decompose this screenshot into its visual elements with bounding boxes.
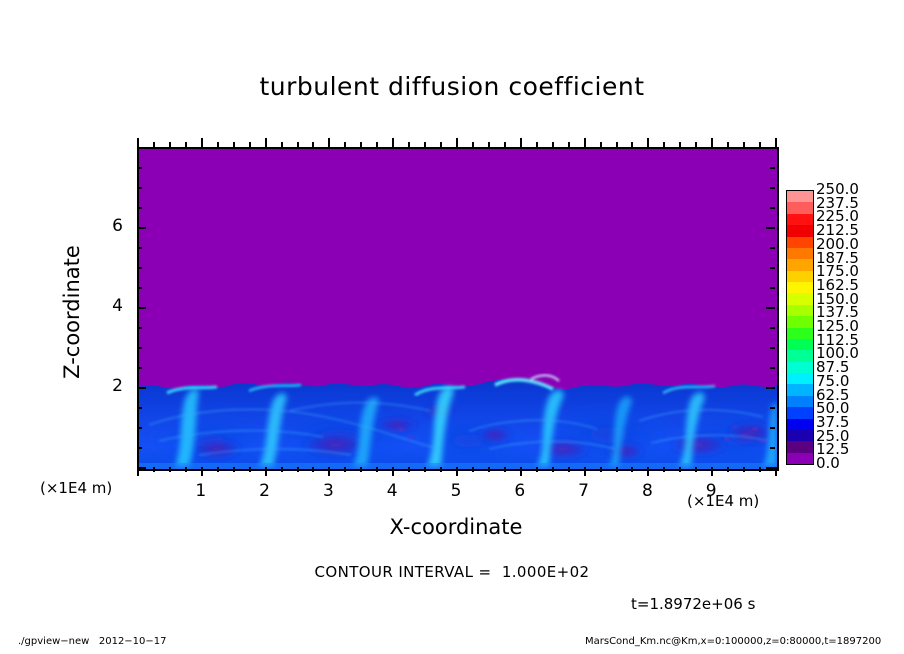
axis-tick bbox=[743, 142, 745, 147]
axis-tick bbox=[695, 467, 697, 472]
axis-tick bbox=[770, 347, 775, 349]
axis-tick bbox=[647, 467, 649, 476]
colorbar-band bbox=[787, 373, 813, 384]
colorbar-band bbox=[787, 225, 813, 236]
axis-tick bbox=[663, 142, 665, 147]
colorbar-band bbox=[787, 350, 813, 361]
axis-tick bbox=[770, 247, 775, 249]
axis-tick bbox=[647, 138, 649, 147]
axis-tick bbox=[695, 142, 697, 147]
axis-tick bbox=[137, 387, 146, 389]
axis-tick bbox=[233, 467, 235, 472]
axis-tick bbox=[137, 347, 142, 349]
y-axis-ticklabel: 6 bbox=[89, 216, 123, 236]
axis-tick bbox=[472, 467, 474, 472]
axis-tick bbox=[217, 467, 219, 472]
axis-tick bbox=[137, 427, 142, 429]
axis-tick bbox=[392, 467, 394, 476]
axis-tick bbox=[169, 467, 171, 472]
axis-tick bbox=[770, 407, 775, 409]
colorbar-band bbox=[787, 339, 813, 350]
page-title: turbulent diffusion coefficient bbox=[0, 72, 904, 101]
colorbar-band bbox=[787, 248, 813, 259]
axis-tick bbox=[137, 467, 146, 469]
axis-tick bbox=[766, 307, 775, 309]
axis-tick bbox=[520, 138, 522, 147]
axis-tick bbox=[536, 467, 538, 472]
axis-tick bbox=[766, 467, 775, 469]
axis-tick bbox=[770, 447, 775, 449]
axis-tick bbox=[265, 467, 267, 476]
axis-tick bbox=[233, 142, 235, 147]
axis-tick bbox=[520, 467, 522, 476]
axis-tick bbox=[265, 138, 267, 147]
x-axis-ticklabel: 3 bbox=[308, 481, 348, 501]
axis-tick bbox=[137, 247, 142, 249]
axis-tick bbox=[344, 142, 346, 147]
axis-tick bbox=[344, 467, 346, 472]
axis-tick bbox=[408, 467, 410, 472]
axis-tick bbox=[297, 467, 299, 472]
axis-tick bbox=[775, 467, 777, 476]
axis-tick bbox=[770, 187, 775, 189]
colorbar-band bbox=[787, 202, 813, 213]
axis-tick bbox=[770, 287, 775, 289]
axis-tick bbox=[488, 467, 490, 472]
colorbar-band bbox=[787, 328, 813, 339]
axis-tick bbox=[137, 367, 142, 369]
axis-tick bbox=[328, 138, 330, 147]
axis-tick bbox=[249, 467, 251, 472]
colorbar-band bbox=[787, 214, 813, 225]
axis-tick bbox=[137, 138, 139, 147]
axis-tick bbox=[743, 467, 745, 472]
axis-tick bbox=[631, 142, 633, 147]
axis-tick bbox=[600, 467, 602, 472]
contour-interval-note: CONTOUR INTERVAL = 1.000E+02 bbox=[0, 563, 904, 581]
colorbar-band bbox=[787, 259, 813, 270]
axis-tick bbox=[616, 142, 618, 147]
footer-command: ./gpview−new 2012−10−17 bbox=[18, 636, 167, 647]
colorbar-band bbox=[787, 362, 813, 373]
axis-tick bbox=[770, 327, 775, 329]
axis-tick bbox=[137, 287, 142, 289]
axis-tick bbox=[137, 147, 146, 149]
axis-tick bbox=[504, 142, 506, 147]
colorbar-band bbox=[787, 407, 813, 418]
axis-tick bbox=[424, 142, 426, 147]
colorbar-band bbox=[787, 419, 813, 430]
axis-tick bbox=[249, 142, 251, 147]
time-stamp: t=1.8972e+06 s bbox=[631, 595, 755, 613]
colorbar-band bbox=[787, 384, 813, 395]
x-axis-ticklabel: 1 bbox=[181, 481, 221, 501]
axis-tick bbox=[711, 467, 713, 476]
axis-tick bbox=[360, 467, 362, 472]
axis-tick bbox=[153, 142, 155, 147]
colorbar-ticklabel: 0.0 bbox=[816, 456, 840, 471]
colorbar-band bbox=[787, 191, 813, 202]
y-axis-ticklabel: 2 bbox=[89, 376, 123, 396]
axis-tick bbox=[137, 327, 142, 329]
axis-tick bbox=[376, 467, 378, 472]
axis-tick bbox=[376, 142, 378, 147]
colorbar-band bbox=[787, 316, 813, 327]
axis-tick bbox=[185, 467, 187, 472]
axis-tick bbox=[711, 138, 713, 147]
axis-tick bbox=[766, 387, 775, 389]
axis-tick bbox=[600, 142, 602, 147]
axis-tick bbox=[488, 142, 490, 147]
x-axis-ticklabel: 8 bbox=[627, 481, 667, 501]
axis-tick bbox=[137, 447, 142, 449]
colorbar-ticklabels: 250.0237.5225.0212.5200.0187.5175.0162.5… bbox=[816, 183, 892, 473]
colorbar-band bbox=[787, 453, 813, 464]
x-axis-ticklabel: 5 bbox=[436, 481, 476, 501]
axis-tick bbox=[169, 142, 171, 147]
axis-tick bbox=[424, 467, 426, 472]
axis-tick bbox=[663, 467, 665, 472]
axis-tick bbox=[312, 142, 314, 147]
colorbar-band bbox=[787, 430, 813, 441]
z-axis-unit-label: (×1E4 m) bbox=[40, 479, 112, 497]
axis-tick bbox=[137, 307, 146, 309]
colorbar-band bbox=[787, 305, 813, 316]
x-axis-title: X-coordinate bbox=[137, 515, 775, 539]
axis-tick bbox=[504, 467, 506, 472]
axis-tick bbox=[472, 142, 474, 147]
axis-tick bbox=[312, 467, 314, 472]
axis-tick bbox=[584, 138, 586, 147]
axis-tick bbox=[297, 142, 299, 147]
colorbar-band bbox=[787, 237, 813, 248]
axis-tick bbox=[137, 227, 146, 229]
axis-tick bbox=[392, 138, 394, 147]
axis-tick bbox=[440, 467, 442, 472]
axis-tick bbox=[770, 207, 775, 209]
axis-tick bbox=[281, 142, 283, 147]
x-axis-ticklabel: 6 bbox=[500, 481, 540, 501]
axis-tick bbox=[408, 142, 410, 147]
axis-tick bbox=[137, 167, 142, 169]
axis-tick bbox=[201, 138, 203, 147]
colorbar-band bbox=[787, 271, 813, 282]
axis-tick bbox=[137, 207, 142, 209]
axis-tick bbox=[328, 467, 330, 476]
axis-tick bbox=[217, 142, 219, 147]
axis-tick bbox=[536, 142, 538, 147]
x-axis-ticklabel: 2 bbox=[245, 481, 285, 501]
axis-tick bbox=[727, 142, 729, 147]
axis-tick bbox=[281, 467, 283, 472]
axis-tick bbox=[770, 427, 775, 429]
axis-tick bbox=[770, 167, 775, 169]
axis-tick bbox=[137, 407, 142, 409]
y-axis-title: Z-coordinate bbox=[60, 192, 84, 432]
axis-tick bbox=[584, 467, 586, 476]
contour-plot-area bbox=[137, 147, 779, 471]
axis-tick bbox=[679, 467, 681, 472]
y-axis-ticklabel: 4 bbox=[89, 296, 123, 316]
axis-tick bbox=[775, 138, 777, 147]
axis-tick bbox=[137, 267, 142, 269]
turbulent-diffusion-field bbox=[139, 149, 777, 469]
axis-tick bbox=[552, 467, 554, 472]
footer-dataset: MarsCond_Km.nc@Km,x=0:100000,z=0:80000,t… bbox=[585, 636, 881, 647]
axis-tick bbox=[727, 467, 729, 472]
axis-tick bbox=[456, 467, 458, 476]
axis-tick bbox=[201, 467, 203, 476]
x-axis-ticklabel: 4 bbox=[372, 481, 412, 501]
axis-tick bbox=[137, 187, 142, 189]
axis-tick bbox=[552, 142, 554, 147]
axis-tick bbox=[631, 467, 633, 472]
axis-tick bbox=[616, 467, 618, 472]
colorbar-band bbox=[787, 441, 813, 452]
axis-tick bbox=[153, 467, 155, 472]
axis-tick bbox=[440, 142, 442, 147]
colorbar-band bbox=[787, 396, 813, 407]
colorbar-band bbox=[787, 282, 813, 293]
axis-tick bbox=[759, 467, 761, 472]
axis-tick bbox=[360, 142, 362, 147]
axis-tick bbox=[766, 147, 775, 149]
x-axis-unit-label: (×1E4 m) bbox=[687, 492, 759, 510]
axis-tick bbox=[679, 142, 681, 147]
axis-tick bbox=[766, 227, 775, 229]
axis-tick bbox=[568, 467, 570, 472]
colorbar-band bbox=[787, 293, 813, 304]
axis-tick bbox=[770, 267, 775, 269]
axis-tick bbox=[568, 142, 570, 147]
axis-tick bbox=[770, 367, 775, 369]
axis-tick bbox=[456, 138, 458, 147]
axis-tick bbox=[185, 142, 187, 147]
colorbar bbox=[786, 190, 814, 465]
x-axis-ticklabel: 7 bbox=[564, 481, 604, 501]
axis-tick bbox=[759, 142, 761, 147]
